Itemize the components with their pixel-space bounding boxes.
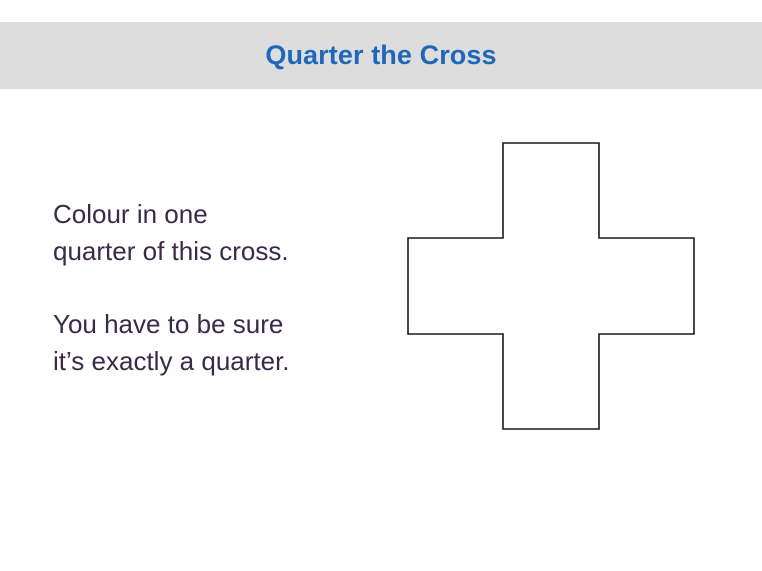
- instruction-line: You have to be sure: [53, 306, 383, 343]
- instructions-text-block: Colour in one quarter of this cross. You…: [53, 196, 383, 380]
- page-title: Quarter the Cross: [0, 38, 762, 72]
- instruction-line: Colour in one: [53, 196, 383, 233]
- instruction-paragraph-2: You have to be sure it’s exactly a quart…: [53, 306, 383, 380]
- instruction-paragraph-1: Colour in one quarter of this cross.: [53, 196, 383, 270]
- slide-canvas: Quarter the Cross Colour in one quarter …: [0, 0, 762, 571]
- paragraph-spacer: [53, 270, 383, 306]
- cross-shape[interactable]: [408, 143, 694, 429]
- instruction-line: quarter of this cross.: [53, 233, 383, 270]
- cross-figure: [406, 141, 696, 431]
- instruction-line: it’s exactly a quarter.: [53, 343, 383, 380]
- cross-svg: [406, 141, 696, 431]
